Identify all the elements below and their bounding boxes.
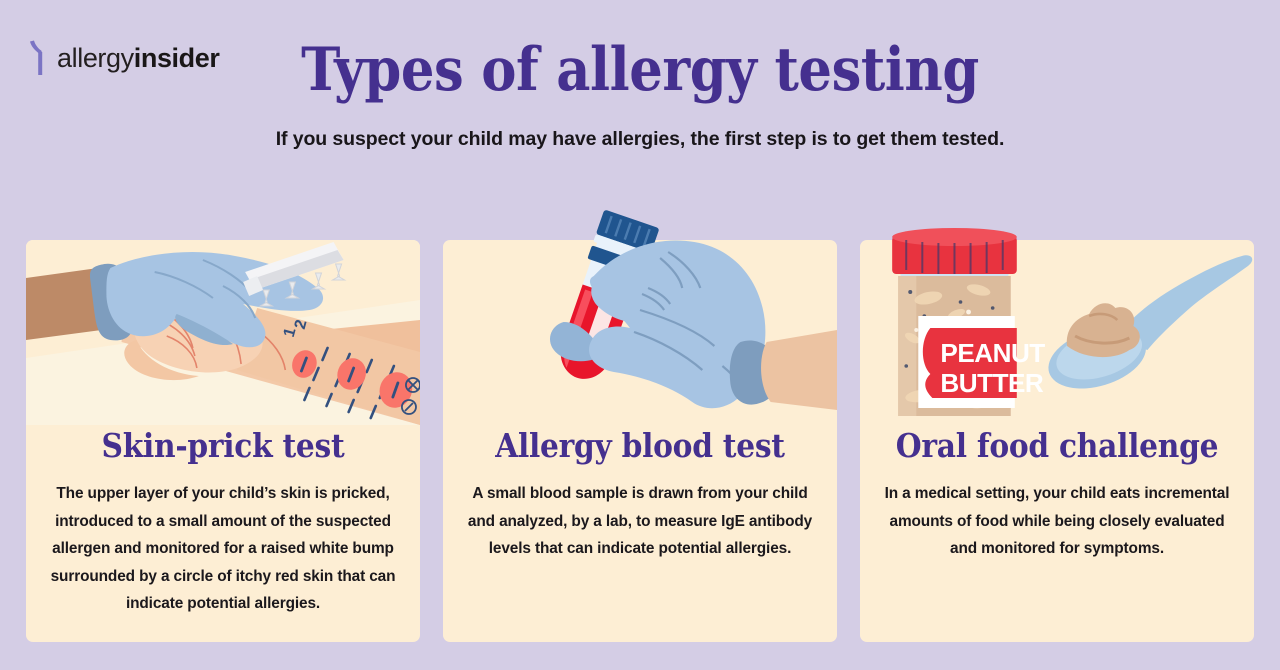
card-title-skin-prick: Skin-prick test (53, 428, 393, 464)
card-body-oral-food-challenge: In a medical setting, your child eats in… (878, 480, 1236, 563)
antibody-y-icon (28, 40, 54, 76)
antibody-y-icon-svg (28, 40, 54, 76)
card-skin-prick-test[interactable]: 1 2 Skin-prick test The upper layer of y… (26, 240, 420, 642)
jar-label-line-2: BUTTER (940, 368, 1044, 398)
card-illustration-blood-test (443, 240, 837, 425)
card-illustration-skin-prick: 1 2 (26, 240, 420, 425)
gloved-hand-holding-blood-collection-tube-icon (443, 190, 837, 425)
card-title-oral-food-challenge: Oral food challenge (887, 428, 1227, 464)
card-illustration-oral-food-challenge: PEANUT BUTTER (860, 240, 1254, 425)
card-body-blood-test: A small blood sample is drawn from your … (461, 480, 819, 563)
card-oral-food-challenge[interactable]: PEANUT BUTTER Oral food challenge In a m… (860, 240, 1254, 642)
jar-label-line-1: PEANUT (940, 338, 1045, 368)
jar-cap (892, 228, 1017, 274)
testing-types-card-list: 1 2 Skin-prick test The upper layer of y… (26, 240, 1254, 642)
card-allergy-blood-test[interactable]: Allergy blood test A small blood sample … (443, 240, 837, 642)
illustration-clip-region: 1 2 (26, 240, 420, 425)
gloved-hand-skin-prick-applicator-on-forearm-icon: 1 2 (26, 240, 420, 425)
page-subtitle: If you suspect your child may have aller… (0, 128, 1280, 151)
spoon-with-peanut-butter (1041, 255, 1252, 399)
card-title-blood-test: Allergy blood test (470, 428, 810, 464)
peanut-butter-jar-and-spoon-icon: PEANUT BUTTER (860, 190, 1254, 425)
card-body-skin-prick: The upper layer of your child’s skin is … (44, 480, 402, 618)
infographic-page: { "brand": { "logo_word_1": "allergy", "… (0, 0, 1280, 670)
page-title: Types of allergy testing (77, 40, 1203, 100)
